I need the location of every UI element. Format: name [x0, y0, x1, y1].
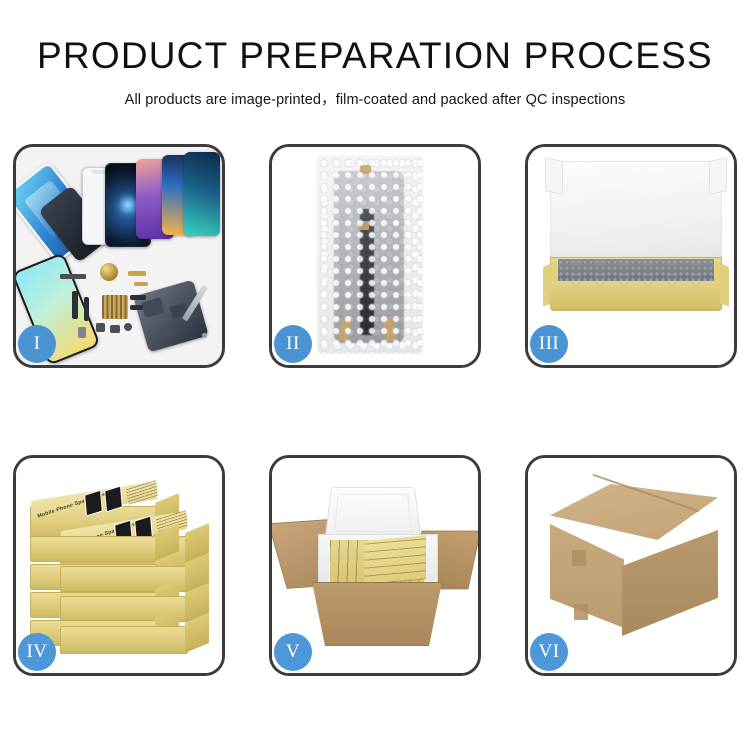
step-badge-4: IV	[18, 633, 56, 671]
flex-cable-2	[84, 297, 89, 321]
chip-part-5	[110, 325, 120, 333]
phone-open-back-case	[133, 280, 209, 353]
box-window-2	[104, 485, 123, 512]
process-panel-6[interactable]: VI	[525, 455, 737, 676]
stacked-box-2	[30, 536, 158, 562]
chip-part-4	[96, 323, 105, 332]
process-panel-1[interactable]: I	[13, 144, 225, 368]
bubble-wrap-bag	[318, 157, 422, 353]
step-badge-2: II	[274, 325, 312, 363]
page-title: PRODUCT PREPARATION PROCESS	[0, 34, 750, 78]
page-header: PRODUCT PREPARATION PROCESS All products…	[0, 34, 750, 109]
carton-front-panel	[312, 582, 442, 646]
process-panel-5[interactable]: V	[269, 455, 481, 676]
stacked-box-8	[60, 626, 188, 654]
vibration-motor-part	[100, 263, 118, 281]
flex-cable-4	[130, 305, 143, 310]
screw-part	[202, 333, 207, 338]
step-badge-6: VI	[530, 633, 568, 671]
open-box-lid	[550, 161, 722, 263]
process-panel-2[interactable]: II	[269, 144, 481, 368]
process-panel-4[interactable]: Mobile Phone Spare Parts Mobile Phone Sp…	[13, 455, 225, 676]
carton-right-face	[622, 530, 718, 636]
chip-part-1	[60, 274, 86, 279]
chip-part-3	[134, 282, 148, 286]
flex-cable-1	[72, 291, 78, 319]
phone-display-teal	[184, 152, 220, 236]
box-stack: Mobile Phone Spare Parts Mobile Phone Sp…	[22, 474, 222, 660]
box-top-face: Mobile Phone Spare Parts	[31, 481, 157, 519]
carton-top-face	[550, 484, 718, 540]
step-badge-1: I	[18, 325, 56, 363]
step-badge-3: III	[530, 325, 568, 363]
process-panel-grid: I II	[13, 144, 737, 676]
bubble-texture-overlay	[318, 157, 422, 353]
page-subtitle: All products are image-printed，film-coat…	[0, 88, 750, 109]
chip-part-2	[128, 271, 146, 276]
yellow-boxes-row-2	[364, 535, 426, 584]
step-badge-5: V	[274, 633, 312, 671]
flex-cable-3	[130, 295, 146, 300]
screw-grid-part	[102, 295, 128, 319]
process-panel-3[interactable]: III	[525, 144, 737, 368]
carton-tape-lower	[574, 604, 588, 620]
box-window-1	[84, 490, 103, 517]
sim-tray-part	[78, 327, 86, 338]
speaker-part	[124, 323, 132, 331]
carton-tape-upper	[572, 550, 586, 566]
box-spec-lines	[126, 480, 158, 505]
foam-lid	[325, 487, 422, 541]
yellow-box-front	[550, 281, 720, 309]
